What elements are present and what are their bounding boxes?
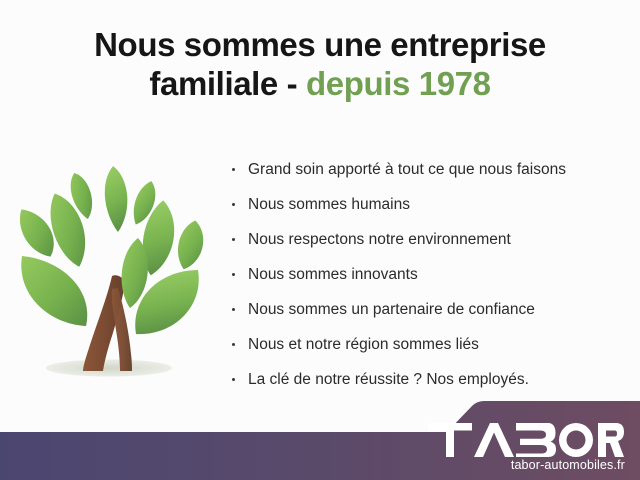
bullet-dot-icon xyxy=(232,308,235,311)
list-item-label: Nous et notre région sommes liés xyxy=(248,336,479,353)
leaf-top-center xyxy=(105,166,128,232)
list-item: Nous respectons notre environnement xyxy=(231,222,631,257)
list-item: La clé de notre réussite ? Nos employés. xyxy=(231,362,631,397)
logo-tagline: tabor-automobiles.fr xyxy=(428,458,628,472)
bullet-dot-icon xyxy=(232,168,235,171)
leaf-far-left-upper xyxy=(19,206,55,259)
leaf-far-right-upper xyxy=(174,218,206,271)
page-title: Nous sommes une entreprise familiale - d… xyxy=(0,26,640,104)
benefits-list: Grand soin apporté à tout ce que nous fa… xyxy=(231,152,631,397)
slide-canvas: Nous sommes une entreprise familiale - d… xyxy=(0,0,640,480)
bullet-dot-icon xyxy=(232,238,235,241)
title-line-2-main: familiale - xyxy=(149,65,297,102)
bullet-dot-icon xyxy=(232,343,235,346)
list-item: Nous et notre région sommes liés xyxy=(231,327,631,362)
title-line-1: Nous sommes une entreprise xyxy=(0,26,640,65)
tree-illustration xyxy=(8,148,213,388)
list-item-label: Nous sommes humains xyxy=(248,196,410,213)
footer-banner: tabor-automobiles.fr xyxy=(0,400,640,480)
leaf-lower-left-large xyxy=(21,256,87,326)
tabor-wordmark xyxy=(428,423,624,457)
list-item: Nous sommes humains xyxy=(231,187,631,222)
list-item: Nous sommes innovants xyxy=(231,257,631,292)
list-item: Nous sommes un partenaire de confiance xyxy=(231,292,631,327)
list-item-label: Nous respectons notre environnement xyxy=(248,231,511,248)
list-item-label: Nous sommes innovants xyxy=(248,266,418,283)
tree-shadow xyxy=(46,360,172,377)
bullet-dot-icon xyxy=(232,273,235,276)
title-accent-year: depuis 1978 xyxy=(306,65,491,102)
list-item-label: Grand soin apporté à tout ce que nous fa… xyxy=(248,161,566,178)
list-item: Grand soin apporté à tout ce que nous fa… xyxy=(231,152,631,187)
bullet-dot-icon xyxy=(232,378,235,381)
list-item-label: Nous sommes un partenaire de confiance xyxy=(248,301,535,318)
brand-logo[interactable]: tabor-automobiles.fr xyxy=(428,423,628,472)
list-item-label: La clé de notre réussite ? Nos employés. xyxy=(248,371,529,388)
bullet-dot-icon xyxy=(232,203,235,206)
title-line-2: familiale - depuis 1978 xyxy=(0,65,640,104)
